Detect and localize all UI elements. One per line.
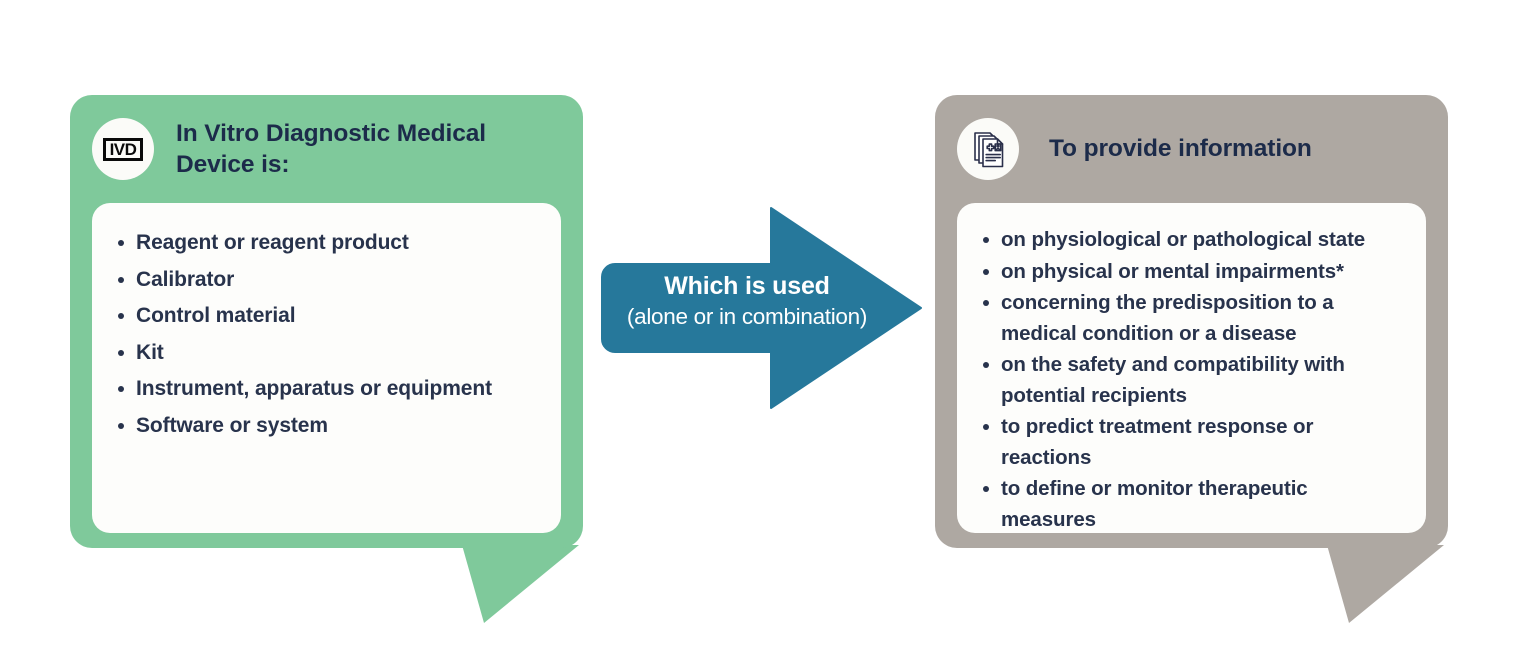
information-purpose-panel: To provide information on physiological …: [935, 95, 1448, 625]
panel-body-grey: To provide information on physiological …: [935, 95, 1448, 548]
left-panel-title: In Vitro Diagnostic Medical Device is:: [176, 118, 556, 181]
list-item: to define or monitor therapeutic measure…: [977, 474, 1406, 535]
list-item: Reagent or reagent product: [112, 225, 541, 262]
right-arrow-icon: Which is used (alone or in combination): [601, 206, 931, 414]
ivd-components-list: Reagent or reagent product Calibrator Co…: [112, 225, 541, 444]
list-item: Calibrator: [112, 262, 541, 299]
list-item: on physical or mental impairments*: [977, 257, 1406, 288]
information-purpose-list: on physiological or pathological state o…: [977, 225, 1406, 535]
panel-header-right: To provide information: [935, 95, 1448, 203]
list-item: concerning the predisposition to a medic…: [977, 288, 1406, 349]
ivd-definition-panel: IVD In Vitro Diagnostic Medical Device i…: [70, 95, 583, 625]
panel-header-left: IVD In Vitro Diagnostic Medical Device i…: [70, 95, 583, 203]
right-arrow-shape: [601, 206, 931, 414]
list-item: to predict treatment response or reactio…: [977, 412, 1406, 473]
ivd-icon-border: IVD: [103, 138, 143, 161]
medical-documents-icon: [957, 118, 1019, 180]
list-item: Instrument, apparatus or equipment: [112, 371, 541, 408]
list-item: Control material: [112, 298, 541, 335]
panel-tail-grey: [1327, 545, 1444, 623]
list-item: on physiological or pathological state: [977, 225, 1406, 256]
list-item: Software or system: [112, 408, 541, 445]
left-panel-card: Reagent or reagent product Calibrator Co…: [92, 203, 561, 533]
list-item: Kit: [112, 335, 541, 372]
list-item: on the safety and compatibility with pot…: [977, 350, 1406, 411]
ivd-icon-label: IVD: [110, 141, 137, 158]
medical-documents-glyph: [967, 128, 1009, 170]
right-panel-card: on physiological or pathological state o…: [957, 203, 1426, 533]
ivd-icon: IVD: [92, 118, 154, 180]
panel-tail-green: [462, 545, 579, 623]
diagram-canvas: IVD In Vitro Diagnostic Medical Device i…: [0, 0, 1536, 661]
panel-body-green: IVD In Vitro Diagnostic Medical Device i…: [70, 95, 583, 548]
right-panel-title: To provide information: [1049, 133, 1312, 164]
